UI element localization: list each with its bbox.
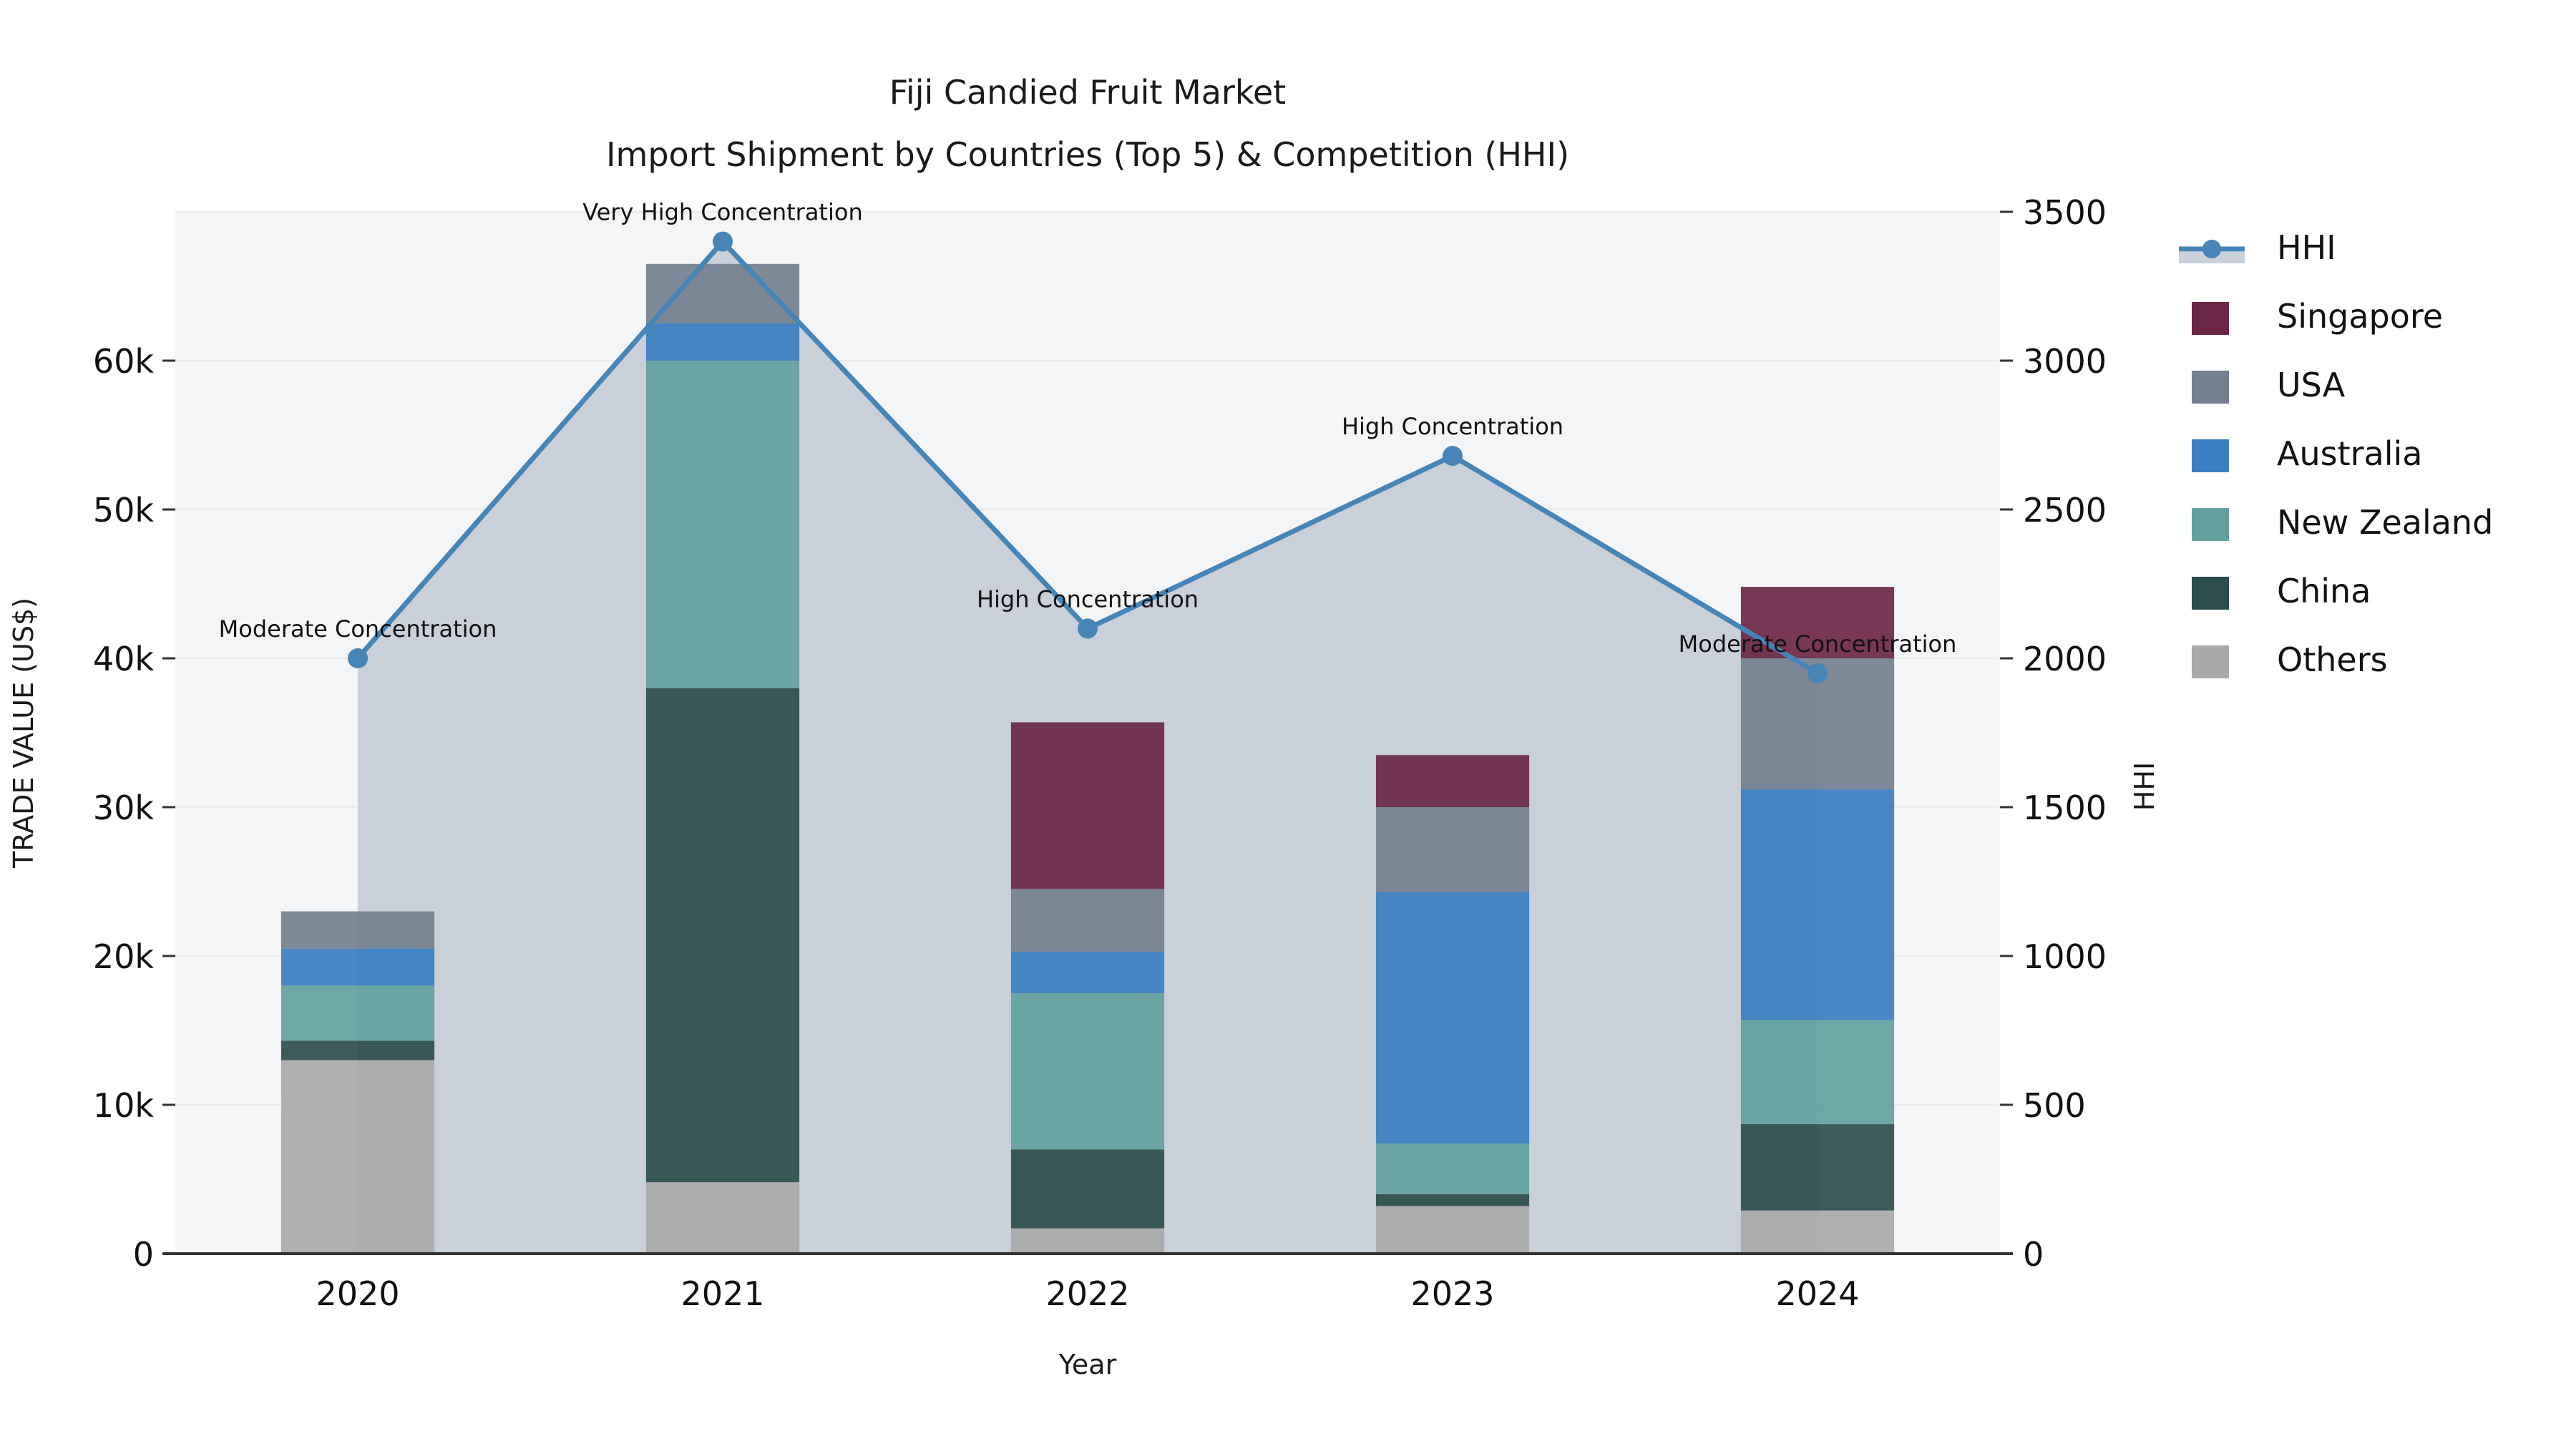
- y-tick-label-4: 40k: [93, 640, 155, 678]
- bar-segment-2024-new-zealand[interactable]: [1741, 1020, 1894, 1124]
- x-tick-label-2022[interactable]: 2022: [1045, 1274, 1129, 1313]
- hhi-marker-2020[interactable]: [348, 648, 368, 668]
- y2-tick-label-2: 1000: [2023, 937, 2107, 976]
- y-axis-left-title: TRADE VALUE (US$): [8, 597, 39, 869]
- annotation-2020: Moderate Concentration: [219, 615, 497, 643]
- bar-segment-2020-australia[interactable]: [281, 949, 434, 986]
- legend-item-new-zealand[interactable]: New Zealand: [2192, 503, 2493, 542]
- y2-tick-label-6: 3000: [2023, 342, 2107, 381]
- y-axis-right: 0500100015002000250030003500HHI: [2000, 193, 2160, 1274]
- annotation-2024: Moderate Concentration: [1679, 630, 1957, 658]
- bar-stack-2024[interactable]: [1741, 587, 1894, 1254]
- annotation-2022: High Concentration: [977, 585, 1199, 613]
- y-tick-label-5: 50k: [93, 491, 155, 530]
- annotation-2023: High Concentration: [1342, 413, 1563, 440]
- legend-item-hhi[interactable]: HHI: [2179, 228, 2336, 267]
- bar-segment-2023-singapore[interactable]: [1376, 755, 1529, 807]
- hhi-marker-2021[interactable]: [713, 232, 733, 252]
- legend-label: HHI: [2277, 228, 2336, 267]
- legend-label: USA: [2277, 366, 2346, 404]
- x-tick-label-2024[interactable]: 2024: [1775, 1274, 1859, 1313]
- bar-segment-2023-china[interactable]: [1376, 1194, 1529, 1206]
- legend-label: Australia: [2277, 434, 2422, 473]
- legend-swatch: [2192, 302, 2229, 335]
- legend-item-china[interactable]: China: [2192, 572, 2371, 610]
- y2-tick-label-0: 0: [2023, 1235, 2044, 1274]
- bar-stack-2022[interactable]: [1011, 722, 1164, 1254]
- y-tick-label-3: 30k: [93, 789, 155, 827]
- y2-tick-label-7: 3500: [2023, 193, 2107, 232]
- y2-tick-label-1: 500: [2023, 1086, 2086, 1125]
- legend-item-australia[interactable]: Australia: [2192, 434, 2422, 473]
- bar-stack-2023[interactable]: [1376, 755, 1529, 1254]
- legend-hhi-marker: [2202, 240, 2221, 258]
- y-tick-label-2: 20k: [93, 937, 155, 976]
- bar-segment-2023-new-zealand[interactable]: [1376, 1143, 1529, 1194]
- bar-segment-2022-usa[interactable]: [1011, 889, 1164, 951]
- legend-label: Singapore: [2277, 297, 2443, 336]
- legend-label: New Zealand: [2277, 503, 2493, 542]
- y-tick-label-1: 10k: [93, 1086, 155, 1125]
- chart-title-group: Fiji Candied Fruit MarketImport Shipment…: [606, 73, 1569, 174]
- bar-segment-2021-others[interactable]: [646, 1182, 799, 1254]
- legend-swatch: [2192, 645, 2229, 678]
- bar-stack-2020[interactable]: [281, 912, 434, 1254]
- bar-segment-2021-new-zealand[interactable]: [646, 361, 799, 688]
- legend-label: Others: [2277, 640, 2388, 679]
- x-tick-label-2023[interactable]: 2023: [1410, 1274, 1494, 1313]
- stacked-bar-hhi-chart: Fiji Candied Fruit MarketImport Shipment…: [0, 0, 2576, 1449]
- legend-label: China: [2277, 572, 2371, 610]
- hhi-marker-2023[interactable]: [1443, 446, 1463, 466]
- bar-segment-2022-china[interactable]: [1011, 1149, 1164, 1228]
- bar-stack-2021[interactable]: [646, 264, 799, 1254]
- legend-item-others[interactable]: Others: [2192, 640, 2388, 679]
- bar-segment-2022-singapore[interactable]: [1011, 722, 1164, 889]
- y-axis-left: 010k20k30k40k50k60kTRADE VALUE (US$): [8, 212, 175, 1274]
- bar-segment-2020-others[interactable]: [281, 1060, 434, 1254]
- bar-segment-2021-usa[interactable]: [646, 264, 799, 323]
- y-tick-label-6: 60k: [93, 342, 155, 381]
- legend-item-usa[interactable]: USA: [2192, 366, 2346, 404]
- x-axis-title: Year: [1058, 1349, 1117, 1380]
- bar-segment-2022-others[interactable]: [1011, 1229, 1164, 1254]
- y2-tick-label-3: 1500: [2023, 789, 2107, 827]
- y2-tick-label-5: 2500: [2023, 491, 2107, 530]
- annotation-2021: Very High Concentration: [582, 199, 862, 226]
- x-axis: 20202021202220232024Year: [162, 1254, 2013, 1380]
- x-tick-label-2021[interactable]: 2021: [680, 1274, 764, 1313]
- legend-swatch: [2192, 508, 2229, 541]
- chart-title-line-2: Import Shipment by Countries (Top 5) & C…: [606, 135, 1569, 174]
- legend: HHISingaporeUSAAustraliaNew ZealandChina…: [2179, 228, 2493, 679]
- chart-title-line-1: Fiji Candied Fruit Market: [889, 73, 1286, 112]
- legend-item-singapore[interactable]: Singapore: [2192, 297, 2443, 336]
- legend-swatch: [2192, 577, 2229, 610]
- bar-segment-2024-australia[interactable]: [1741, 789, 1894, 1020]
- y-tick-label-0: 0: [133, 1235, 154, 1274]
- legend-swatch: [2192, 371, 2229, 404]
- bar-segment-2023-australia[interactable]: [1376, 892, 1529, 1144]
- bar-segment-2023-usa[interactable]: [1376, 807, 1529, 892]
- legend-swatch: [2192, 439, 2229, 472]
- bar-segment-2022-australia[interactable]: [1011, 952, 1164, 993]
- bar-segment-2024-others[interactable]: [1741, 1211, 1894, 1254]
- bar-segment-2020-new-zealand[interactable]: [281, 986, 434, 1041]
- y2-tick-label-4: 2000: [2023, 640, 2107, 678]
- bar-segment-2020-china[interactable]: [281, 1041, 434, 1060]
- bar-segment-2021-china[interactable]: [646, 688, 799, 1183]
- bar-segment-2020-usa[interactable]: [281, 912, 434, 949]
- bar-segment-2021-australia[interactable]: [646, 323, 799, 361]
- bar-segment-2024-china[interactable]: [1741, 1124, 1894, 1211]
- bar-segment-2022-new-zealand[interactable]: [1011, 993, 1164, 1149]
- hhi-marker-2024[interactable]: [1807, 663, 1828, 683]
- x-tick-label-2020[interactable]: 2020: [316, 1274, 399, 1313]
- bar-segment-2023-others[interactable]: [1376, 1206, 1529, 1254]
- chart-container: Fiji Candied Fruit MarketImport Shipment…: [0, 0, 2576, 1449]
- y-axis-right-title: HHI: [2129, 762, 2160, 811]
- hhi-marker-2022[interactable]: [1078, 618, 1098, 638]
